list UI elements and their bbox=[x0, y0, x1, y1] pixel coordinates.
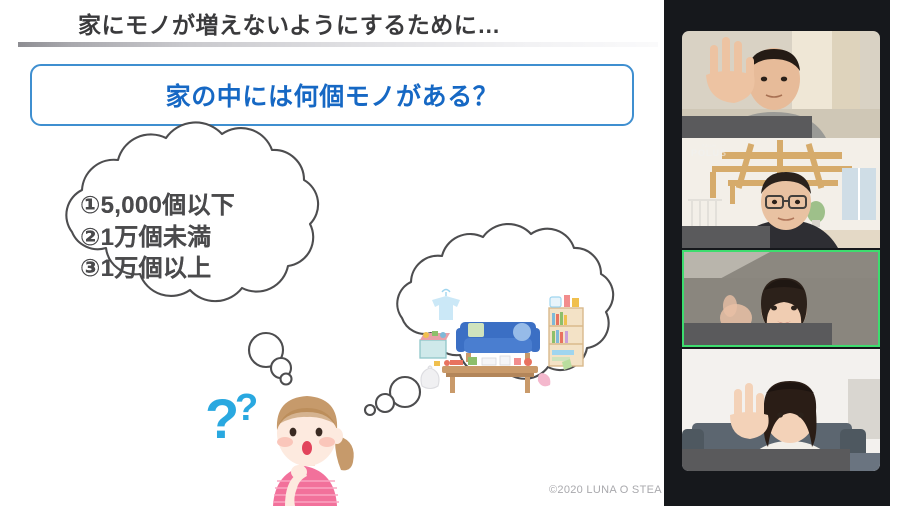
question-callout-text: 家の中には何個モノがある？ bbox=[166, 77, 499, 113]
living-room-illustration bbox=[412, 278, 592, 398]
floor-toy-icon bbox=[538, 373, 551, 386]
participant-name-redaction-2 bbox=[682, 226, 770, 248]
toy-box-icon bbox=[420, 331, 450, 366]
coffee-table-icon bbox=[442, 356, 538, 393]
white-bag-icon bbox=[421, 366, 439, 389]
video-tile-participant-1[interactable] bbox=[682, 31, 880, 138]
question-callout-box: 家の中には何個モノがある？ bbox=[30, 64, 634, 126]
answer-option-3: ③1万個以上 bbox=[80, 253, 350, 285]
polus-watermark: POLUS POLUS bbox=[691, 145, 727, 158]
video-tile-participant-3[interactable] bbox=[682, 250, 880, 347]
copyright-notice: ©2020 LUNA O STEA bbox=[549, 484, 662, 496]
video-conference-panel: POLUS POLUS bbox=[664, 0, 890, 506]
bookshelf-icon bbox=[549, 295, 583, 366]
panel-right-margin bbox=[890, 0, 900, 506]
answer-option-1: ①5,000個以下 bbox=[80, 190, 350, 222]
video-tile-participant-4[interactable] bbox=[682, 349, 880, 471]
participant-name-redaction-3 bbox=[684, 323, 832, 345]
participant-name-redaction-1 bbox=[682, 116, 812, 138]
participant-name-redaction-4 bbox=[682, 449, 850, 471]
screen-root: 家にモノが増えないようにするために… 家の中には何個モノがある？ bbox=[0, 0, 900, 506]
presentation-slide: 家にモノが増えないようにするために… 家の中には何個モノがある？ bbox=[0, 0, 664, 506]
thinking-woman-illustration bbox=[255, 388, 373, 506]
slide-title: 家にモノが増えないようにするために… bbox=[78, 6, 638, 40]
answer-option-2: ②1万個未満 bbox=[80, 222, 350, 254]
video-tile-participant-2[interactable]: POLUS POLUS bbox=[682, 138, 880, 248]
answer-options-list: ①5,000個以下 ②1万個未満 ③1万個以上 bbox=[80, 190, 350, 285]
sofa-icon bbox=[456, 322, 540, 362]
hanging-shirt-icon bbox=[432, 290, 460, 321]
title-divider bbox=[18, 42, 658, 47]
